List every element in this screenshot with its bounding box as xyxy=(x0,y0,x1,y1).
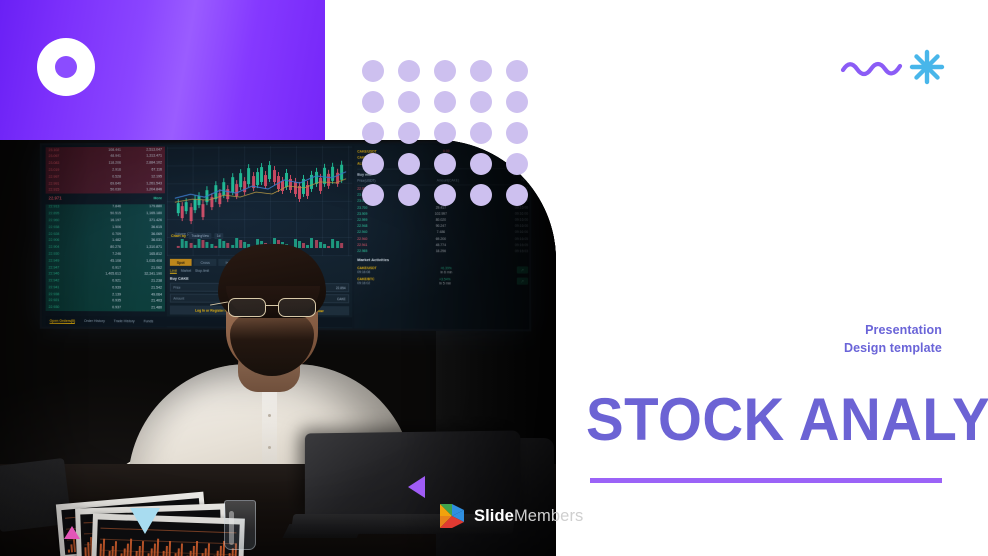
kicker-text: Presentation Design template xyxy=(602,322,942,358)
moving-average-line xyxy=(175,168,346,206)
paper-chart-bar xyxy=(129,539,131,556)
water-glass xyxy=(224,500,256,550)
pinwheel-logo-icon xyxy=(437,501,467,531)
paper-chart-bar xyxy=(70,544,72,552)
paper-chart-bar xyxy=(114,541,116,556)
triangle-blue-icon xyxy=(130,508,160,534)
candlestick xyxy=(181,206,184,218)
market-activity-open-button[interactable]: ↗ xyxy=(516,278,528,285)
slide-canvas: 23.102108.4412,513.04723.09748.9411,313.… xyxy=(0,0,988,556)
printed-chart-paper xyxy=(91,513,245,556)
mid-price: 22.971 xyxy=(49,197,62,201)
asterisk-doodle-icon xyxy=(908,48,946,86)
laptop-keyboard xyxy=(283,524,364,538)
dot xyxy=(434,91,456,113)
paper-chart-bar xyxy=(180,543,182,556)
sell-with-label: Sell with xyxy=(513,172,528,176)
paper-chart-bar xyxy=(108,551,110,556)
eyeglasses xyxy=(224,298,322,318)
paper-chart-bar xyxy=(204,548,206,556)
dot xyxy=(506,91,528,113)
paper-chart-bar xyxy=(153,544,155,556)
market-activity-open-button[interactable]: ↗ xyxy=(516,266,528,273)
slidemembers-logo: SlideMembers xyxy=(437,501,583,531)
ticker-pairs: CAKE/USDT0.00+0.29%CAKE/BTC0.00+0.73%ALP… xyxy=(357,148,528,170)
paper-chart-bar xyxy=(68,550,70,553)
kicker-line-1: Presentation xyxy=(602,322,942,340)
ring-shape-icon xyxy=(37,38,95,96)
page-title: STOCK ANALYST xyxy=(586,390,962,450)
dot xyxy=(470,91,492,113)
paper-chart-bar xyxy=(84,547,86,556)
triangle-purple-icon xyxy=(408,476,425,498)
triangle-pink-icon xyxy=(64,526,80,539)
paper-chart-bar xyxy=(192,546,194,556)
dot xyxy=(362,91,384,113)
paper-chart-bar xyxy=(168,541,170,556)
col-price: Price(USDT) xyxy=(357,179,375,183)
dot xyxy=(506,60,528,82)
orders-tab[interactable]: Order History xyxy=(84,319,105,323)
dot xyxy=(398,91,420,113)
title-underline xyxy=(590,478,942,483)
slidemembers-wordmark: SlideMembers xyxy=(474,507,583,526)
purple-accent-block xyxy=(0,0,325,140)
ticker-pair-row[interactable]: ALPHA/BTC0.00003264-1.42% xyxy=(357,160,528,167)
dot xyxy=(470,60,492,82)
more-label: More xyxy=(154,197,162,201)
buy-with-label: Buy with xyxy=(357,173,372,177)
dot xyxy=(362,60,384,82)
wave-doodle-icon xyxy=(840,55,906,81)
paper-chart-bar xyxy=(141,541,143,556)
col-time: Time xyxy=(521,178,528,182)
paper-chart-line xyxy=(100,528,236,534)
dot xyxy=(398,60,420,82)
paper-chart-bar xyxy=(102,539,104,556)
brand-light: Members xyxy=(514,507,583,525)
brand-bold: Slide xyxy=(474,507,514,525)
dot xyxy=(434,60,456,82)
hero-photo: 23.102108.4412,513.04723.09748.9411,313.… xyxy=(0,140,556,556)
order-book-mid-price: 22.971 More xyxy=(46,194,165,205)
kicker-line-2: Design template xyxy=(602,340,942,358)
orders-tab[interactable]: Open Orders(0) xyxy=(50,318,76,323)
col-amount: Amount(CAKE) xyxy=(437,178,459,182)
